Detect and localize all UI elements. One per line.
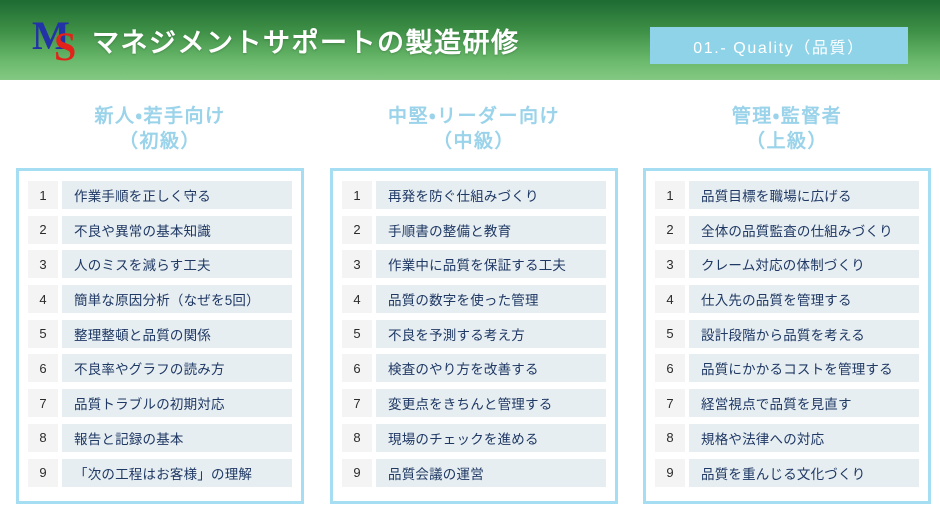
list-item[interactable]: 4 品質の数字を使った管理 <box>342 285 606 313</box>
list-item-label: クレーム対応の体制づくり <box>689 250 919 278</box>
list-item[interactable]: 1 品質目標を職場に広げる <box>655 181 919 209</box>
list-item-label: 検査のやり方を改善する <box>376 354 606 382</box>
list-item[interactable]: 7 経営視点で品質を見直す <box>655 389 919 417</box>
column-heading-line1: 新人・若手向け <box>95 106 226 127</box>
list-item-number: 6 <box>28 354 58 382</box>
level-column-beginner: 新人・若手向け （初級） 1 作業手順を正しく守る 2 不良や異常の基本知識 3… <box>16 80 304 504</box>
topic-card: 1 再発を防ぐ仕組みづくり 2 手順書の整備と教育 3 作業中に品質を保証する工… <box>330 168 618 504</box>
levels-container: 新人・若手向け （初級） 1 作業手順を正しく守る 2 不良や異常の基本知識 3… <box>0 80 940 530</box>
list-item-number: 6 <box>342 354 372 382</box>
list-item-label: 人のミスを減らす工夫 <box>62 250 292 278</box>
list-item-label: 作業手順を正しく守る <box>62 181 292 209</box>
list-item[interactable]: 2 不良や異常の基本知識 <box>28 216 292 244</box>
list-item-number: 3 <box>28 250 58 278</box>
list-item-label: 不良を予測する考え方 <box>376 320 606 348</box>
list-item-label: 品質にかかるコストを管理する <box>689 354 919 382</box>
column-heading-line1: 中堅・リーダー向け <box>388 106 560 127</box>
list-item-label: 品質トラブルの初期対応 <box>62 389 292 417</box>
list-item[interactable]: 5 整理整頓と品質の関係 <box>28 320 292 348</box>
ms-logo: M S <box>32 15 88 65</box>
column-heading-line1: 管理・監督者 <box>732 106 842 127</box>
list-item-number: 3 <box>655 250 685 278</box>
list-item[interactable]: 4 仕入先の品質を管理する <box>655 285 919 313</box>
list-item[interactable]: 4 簡単な原因分析（なぜを5回） <box>28 285 292 313</box>
list-item-number: 9 <box>342 459 372 487</box>
list-item[interactable]: 3 クレーム対応の体制づくり <box>655 250 919 278</box>
list-item-number: 5 <box>28 320 58 348</box>
list-item-number: 4 <box>342 285 372 313</box>
list-item-number: 7 <box>28 389 58 417</box>
list-item-number: 9 <box>655 459 685 487</box>
list-item-number: 3 <box>342 250 372 278</box>
list-item[interactable]: 9 「次の工程はお客様」の理解 <box>28 459 292 487</box>
page-header: M S マネジメントサポートの製造研修 01.- Quality（品質） <box>0 0 940 80</box>
list-item-label: 整理整頓と品質の関係 <box>62 320 292 348</box>
topic-card: 1 品質目標を職場に広げる 2 全体の品質監査の仕組みづくり 3 クレーム対応の… <box>643 168 931 504</box>
list-item[interactable]: 1 再発を防ぐ仕組みづくり <box>342 181 606 209</box>
list-item[interactable]: 8 現場のチェックを進める <box>342 424 606 452</box>
list-item-label: 仕入先の品質を管理する <box>689 285 919 313</box>
list-item-number: 7 <box>342 389 372 417</box>
list-item-label: 全体の品質監査の仕組みづくり <box>689 216 919 244</box>
list-item-label: 経営視点で品質を見直す <box>689 389 919 417</box>
list-item-number: 8 <box>342 424 372 452</box>
list-item-label: 報告と記録の基本 <box>62 424 292 452</box>
list-item-number: 2 <box>28 216 58 244</box>
list-item[interactable]: 7 変更点をきちんと管理する <box>342 389 606 417</box>
list-item[interactable]: 1 作業手順を正しく守る <box>28 181 292 209</box>
list-item-label: 不良率やグラフの読み方 <box>62 354 292 382</box>
list-item-label: 品質を重んじる文化づくり <box>689 459 919 487</box>
list-item-number: 6 <box>655 354 685 382</box>
column-heading-line2: （中級） <box>330 129 618 154</box>
list-item-number: 7 <box>655 389 685 417</box>
list-item-number: 4 <box>28 285 58 313</box>
column-heading: 管理・監督者 （上級） <box>643 80 931 154</box>
level-column-advanced: 管理・監督者 （上級） 1 品質目標を職場に広げる 2 全体の品質監査の仕組みづ… <box>643 80 931 504</box>
logo-letter-s-icon: S <box>54 27 76 67</box>
list-item-label: 規格や法律への対応 <box>689 424 919 452</box>
list-item-number: 2 <box>342 216 372 244</box>
list-item-label: 再発を防ぐ仕組みづくり <box>376 181 606 209</box>
list-item-label: 作業中に品質を保証する工夫 <box>376 250 606 278</box>
list-item-label: 現場のチェックを進める <box>376 424 606 452</box>
list-item-label: 設計段階から品質を考える <box>689 320 919 348</box>
list-item[interactable]: 9 品質を重んじる文化づくり <box>655 459 919 487</box>
list-item[interactable]: 3 作業中に品質を保証する工夫 <box>342 250 606 278</box>
topic-badge: 01.- Quality（品質） <box>650 27 908 64</box>
column-heading-line2: （上級） <box>643 129 931 154</box>
page-title: マネジメントサポートの製造研修 <box>92 21 520 60</box>
list-item[interactable]: 8 規格や法律への対応 <box>655 424 919 452</box>
list-item[interactable]: 2 手順書の整備と教育 <box>342 216 606 244</box>
list-item[interactable]: 6 検査のやり方を改善する <box>342 354 606 382</box>
list-item[interactable]: 6 不良率やグラフの読み方 <box>28 354 292 382</box>
list-item-number: 4 <box>655 285 685 313</box>
list-item-number: 5 <box>342 320 372 348</box>
topic-card: 1 作業手順を正しく守る 2 不良や異常の基本知識 3 人のミスを減らす工夫 4… <box>16 168 304 504</box>
list-item-label: 手順書の整備と教育 <box>376 216 606 244</box>
list-item-label: 品質会議の運営 <box>376 459 606 487</box>
list-item[interactable]: 8 報告と記録の基本 <box>28 424 292 452</box>
list-item-number: 5 <box>655 320 685 348</box>
list-item-label: 「次の工程はお客様」の理解 <box>62 459 292 487</box>
list-item-number: 1 <box>655 181 685 209</box>
list-item[interactable]: 9 品質会議の運営 <box>342 459 606 487</box>
list-item-number: 8 <box>655 424 685 452</box>
list-item-label: 品質の数字を使った管理 <box>376 285 606 313</box>
list-item[interactable]: 5 設計段階から品質を考える <box>655 320 919 348</box>
column-heading-line2: （初級） <box>16 129 304 154</box>
list-item-number: 9 <box>28 459 58 487</box>
list-item-number: 1 <box>28 181 58 209</box>
level-column-intermediate: 中堅・リーダー向け （中級） 1 再発を防ぐ仕組みづくり 2 手順書の整備と教育… <box>330 80 618 504</box>
list-item[interactable]: 5 不良を予測する考え方 <box>342 320 606 348</box>
list-item-number: 8 <box>28 424 58 452</box>
column-heading: 中堅・リーダー向け （中級） <box>330 80 618 154</box>
list-item[interactable]: 6 品質にかかるコストを管理する <box>655 354 919 382</box>
list-item-label: 不良や異常の基本知識 <box>62 216 292 244</box>
list-item-label: 変更点をきちんと管理する <box>376 389 606 417</box>
list-item-label: 品質目標を職場に広げる <box>689 181 919 209</box>
list-item-number: 1 <box>342 181 372 209</box>
list-item[interactable]: 7 品質トラブルの初期対応 <box>28 389 292 417</box>
list-item[interactable]: 2 全体の品質監査の仕組みづくり <box>655 216 919 244</box>
list-item-number: 2 <box>655 216 685 244</box>
column-heading: 新人・若手向け （初級） <box>16 80 304 154</box>
list-item[interactable]: 3 人のミスを減らす工夫 <box>28 250 292 278</box>
list-item-label: 簡単な原因分析（なぜを5回） <box>62 285 292 313</box>
